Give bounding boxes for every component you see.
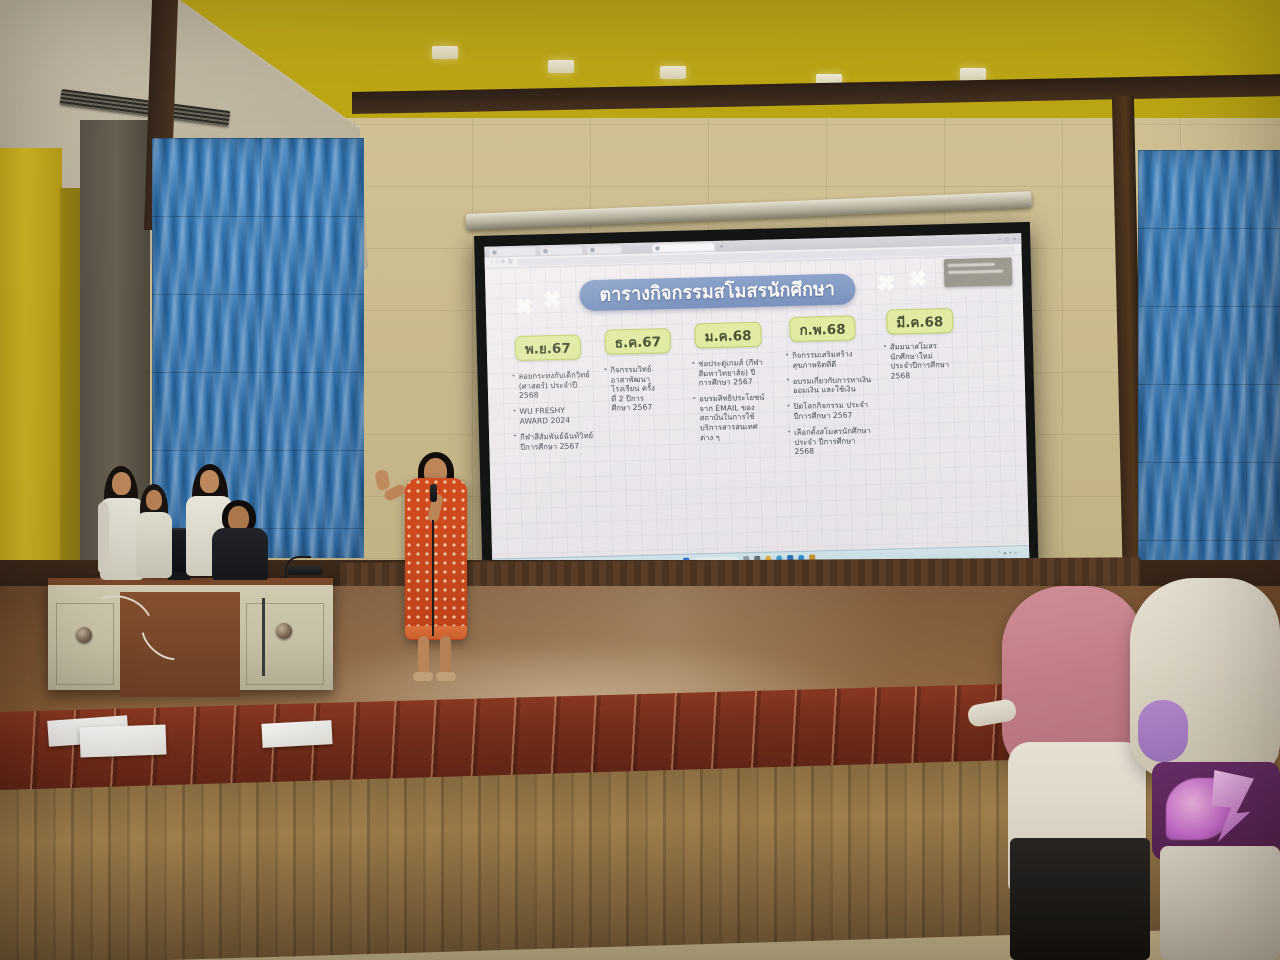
activity-item: ปิดโลกกิจกรรม ประจำปีการศึกษา 2567 [786, 400, 872, 421]
activity-item: WU FRESHY AWARD 2024 [512, 405, 594, 426]
speaker-dress-hem [405, 626, 467, 639]
chevron-up-icon[interactable]: ^ [998, 551, 1001, 555]
browser-nav-icons[interactable]: ‹ › ⟳ ☰ [491, 259, 513, 266]
month-column-jan: ช่อประดู่เกมส์ (กีฬาสีมหาวิทยาลัย) ปีการ… [691, 358, 767, 450]
slide-canvas: ตารางกิจกรรมสโมสรนักศึกษา พ.ย.67 ธ.ค.67 … [485, 255, 1029, 558]
microphone-base [288, 566, 322, 575]
activity-item: ลอยกระทงกับเด็กวิทย์ (ศาสตร์) ประจำปี 25… [511, 370, 594, 401]
minimize-icon[interactable]: — [997, 237, 1001, 242]
back-icon[interactable]: ‹ [491, 260, 493, 266]
volume-icon[interactable]: ◂ [1009, 551, 1011, 555]
screen-tooltip-overlay [944, 257, 1013, 287]
acoustic-panel-left [152, 138, 364, 558]
cable-drop [262, 598, 265, 676]
window-controls[interactable]: — ▢ ✕ [997, 236, 1016, 241]
auditorium-photo: + — ▢ ✕ ‹ › ⟳ ☰ [0, 0, 1280, 960]
browser-tab[interactable] [587, 245, 621, 254]
activity-item: กีฬาสีสัมพันธ์ฉันท์วิทย์ ปีการศึกษา 2567 [513, 431, 595, 452]
close-icon[interactable]: ✕ [1013, 236, 1016, 241]
month-badge-feb: ก.พ.68 [789, 315, 856, 342]
favicon-icon [543, 249, 547, 253]
handheld-microphone [430, 484, 437, 502]
favicon-icon [590, 247, 594, 251]
favicon-icon [492, 250, 496, 254]
month-column-mar: สัมมนาสโมสรนักศึกษาใหม่ ประจำปีการศึกษา … [883, 341, 956, 388]
browser-tab[interactable] [540, 246, 582, 255]
desk-knob [276, 623, 292, 639]
network-icon[interactable]: ▲ [1004, 551, 1007, 555]
attendee-2-trousers [1160, 846, 1280, 960]
tooltip-text-line [948, 270, 1003, 274]
projection-surface: + — ▢ ✕ ‹ › ⟳ ☰ [484, 233, 1029, 571]
tooltip-text-line [948, 263, 995, 267]
slide-title: ตารางกิจกรรมสโมสรนักศึกษา [599, 275, 835, 310]
attendee-2-sleeve [1138, 700, 1188, 762]
maximize-icon[interactable]: ▢ [1005, 236, 1009, 241]
month-column-feb: กิจกรรมเสริมสร้างสุขภาพจิตที่ดี อบรมเกี่… [785, 349, 874, 463]
month-badge-jan: ม.ค.68 [694, 322, 762, 349]
month-badge-mar: มี.ค.68 [886, 308, 954, 335]
paper-sheet [261, 720, 332, 748]
month-badge-nov: พ.ย.67 [515, 334, 581, 361]
month-column-nov: ลอยกระทงกับเด็กวิทย์ (ศาสตร์) ประจำปี 25… [511, 370, 595, 459]
attendee-1-skirt [1010, 838, 1150, 960]
menu-icon[interactable]: ☰ [508, 259, 513, 265]
slide-columns: ลอยกระทงกับเด็กวิทย์ (ศาสตร์) ประจำปี 25… [487, 347, 1028, 543]
desk-side-panel-right [246, 603, 324, 685]
projector-screen: + — ▢ ✕ ‹ › ⟳ ☰ [474, 222, 1039, 588]
shoe [413, 672, 433, 681]
forward-icon[interactable]: › [496, 259, 498, 265]
favicon-icon [655, 246, 659, 250]
ceiling-light-icon [548, 60, 574, 73]
activity-item: กิจกรรมวิทย์อาสาพัฒนาโรงเรียน ครั้งที่ 2… [603, 364, 660, 413]
taskbar-tray[interactable]: ^ ▲ ◂ ▭ [998, 550, 1024, 555]
acoustic-panel-right [1138, 150, 1280, 620]
browser-tab[interactable] [489, 247, 535, 256]
battery-icon[interactable]: ▭ [1014, 550, 1017, 554]
ceiling-light-icon [432, 46, 458, 59]
paper-sheet [80, 725, 167, 758]
activity-item: อบรมสิทธิประโยชน์จาก EMAIL ของสถาบันในกา… [692, 393, 767, 443]
new-tab-icon[interactable]: + [719, 243, 723, 249]
shoe [436, 672, 456, 681]
activity-item: กิจกรรมเสริมสร้างสุขภาพจิตที่ดี [785, 349, 871, 370]
month-column-dec: กิจกรรมวิทย์อาสาพัฒนาโรงเรียน ครั้งที่ 2… [603, 364, 660, 420]
month-badge-dec: ธ.ค.67 [604, 328, 671, 355]
activity-item: อบรมเกี่ยวกับการหาเงิน ออมเงิน และใช้เงิ… [786, 375, 872, 396]
reload-icon[interactable]: ⟳ [501, 259, 505, 265]
activity-item: เลือกตั้งสโมสรนักศึกษาประจำ ปีการศึกษา 2… [787, 426, 874, 457]
activity-item: สัมมนาสโมสรนักศึกษาใหม่ ประจำปีการศึกษา … [883, 341, 956, 381]
activity-item: ช่อประดู่เกมส์ (กีฬาสีมหาวิทยาลัย) ปีการ… [691, 358, 766, 389]
mic-cable [432, 520, 434, 636]
browser-tab-active[interactable] [652, 242, 714, 252]
ceiling-light-icon [660, 66, 686, 79]
